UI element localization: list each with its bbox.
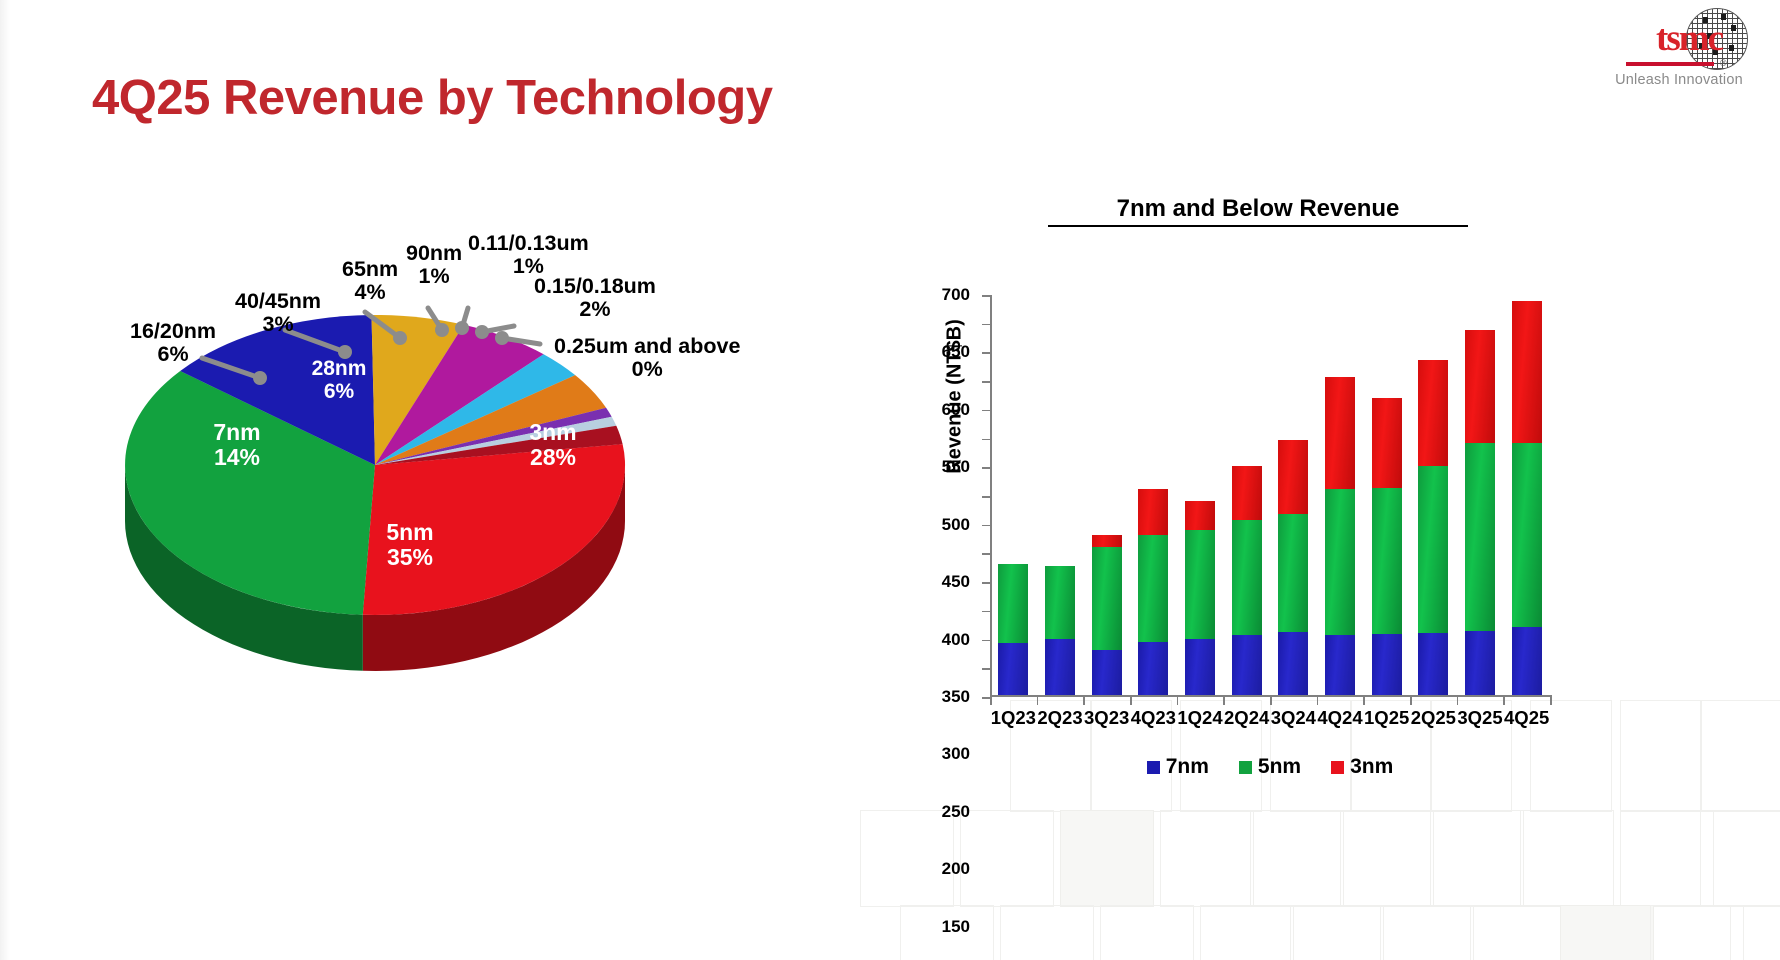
watermark-cell bbox=[1700, 810, 1780, 907]
watermark-cell bbox=[1340, 810, 1434, 907]
y-tick: 300 bbox=[982, 525, 990, 527]
y-tick-label: 250 bbox=[942, 802, 970, 822]
bar-segment-3nm bbox=[1325, 377, 1355, 490]
bar-segment-7nm bbox=[1232, 635, 1262, 695]
x-tick bbox=[1410, 697, 1412, 705]
bar-segment-3nm bbox=[1092, 535, 1122, 546]
y-tick-label: 450 bbox=[942, 572, 970, 592]
y-tick: 600 bbox=[982, 352, 990, 354]
x-tick bbox=[1270, 697, 1272, 705]
logo-mark: tsmc ® bbox=[1604, 8, 1754, 70]
x-tick bbox=[990, 697, 992, 705]
pie-chart: 16/20nm 6% 40/45nm 3% 65nm 4% 90nm 1% 0.… bbox=[110, 280, 810, 700]
bar-chart: 7nm and Below Revenue Revenue (NT$B) 700… bbox=[930, 195, 1750, 755]
bar-segment-7nm bbox=[1325, 635, 1355, 695]
legend-swatch-5nm bbox=[1239, 761, 1252, 774]
y-tick: 400 bbox=[982, 467, 990, 469]
x-axis-label-3Q25: 3Q25 bbox=[1457, 707, 1502, 729]
y-tick-label: 350 bbox=[942, 687, 970, 707]
pie-slice-label-7nm: 7nm 14% bbox=[192, 420, 282, 470]
page-title: 4Q25 Revenue by Technology bbox=[92, 70, 772, 126]
y-tick-label: 400 bbox=[942, 630, 970, 650]
bar-segment-3nm bbox=[1512, 301, 1542, 443]
chart-legend: 7nm5nm3nm bbox=[990, 755, 1550, 779]
bar-segment-5nm bbox=[1512, 443, 1542, 627]
y-tick-label: 300 bbox=[942, 744, 970, 764]
x-tick bbox=[1037, 697, 1039, 705]
watermark-cell bbox=[960, 810, 1054, 907]
bar-segment-5nm bbox=[1185, 530, 1215, 639]
watermark-cell bbox=[1000, 905, 1094, 960]
bar-segment-7nm bbox=[1278, 632, 1308, 695]
x-axis-label-1Q23: 1Q23 bbox=[991, 707, 1036, 729]
bar-segment-3nm bbox=[1278, 440, 1308, 514]
y-tick-label: 500 bbox=[942, 515, 970, 535]
x-axis-label-2Q25: 2Q25 bbox=[1411, 707, 1456, 729]
x-axis-label-4Q23: 4Q23 bbox=[1131, 707, 1176, 729]
y-tick: 100 bbox=[982, 640, 990, 642]
bar-1Q25 bbox=[1372, 398, 1402, 695]
bar-segment-7nm bbox=[1512, 627, 1542, 695]
legend-item-3nm[interactable]: 3nm bbox=[1331, 755, 1393, 779]
x-tick bbox=[1503, 697, 1505, 705]
bar-segment-5nm bbox=[1278, 514, 1308, 632]
bar-4Q25 bbox=[1512, 301, 1542, 695]
y-tick-label: 700 bbox=[942, 285, 970, 305]
logo-underline bbox=[1626, 62, 1714, 66]
bar-segment-7nm bbox=[1185, 639, 1215, 695]
legend-label-3nm: 3nm bbox=[1350, 755, 1393, 779]
x-tick bbox=[1363, 697, 1365, 705]
watermark-cell bbox=[1100, 905, 1194, 960]
brand-tagline: Unleash Innovation bbox=[1604, 72, 1754, 88]
tsmc-wordmark: tsmc bbox=[1604, 20, 1722, 57]
bar-segment-7nm bbox=[1092, 650, 1122, 695]
y-tick: 200 bbox=[982, 582, 990, 584]
bar-2Q23 bbox=[1045, 566, 1075, 695]
x-tick bbox=[1317, 697, 1319, 705]
watermark-cell bbox=[1560, 905, 1654, 960]
y-tick-label: 200 bbox=[942, 859, 970, 879]
watermark-cell bbox=[1250, 810, 1344, 907]
legend-item-7nm[interactable]: 7nm bbox=[1147, 755, 1209, 779]
bar-segment-3nm bbox=[1138, 489, 1168, 535]
watermark-cell bbox=[1200, 905, 1294, 960]
bar-segment-3nm bbox=[1465, 330, 1495, 444]
x-axis-label-2Q23: 2Q23 bbox=[1037, 707, 1082, 729]
legend-label-7nm: 7nm bbox=[1166, 755, 1209, 779]
y-tick-label: 150 bbox=[942, 917, 970, 937]
x-tick bbox=[1223, 697, 1225, 705]
bar-segment-3nm bbox=[1185, 501, 1215, 530]
bar-1Q24 bbox=[1185, 501, 1215, 695]
pie-callout-015-018um: 0.15/0.18um 2% bbox=[534, 275, 656, 321]
watermark-cell bbox=[1060, 810, 1154, 907]
pie-leader-dot bbox=[393, 331, 407, 345]
pie-slice-label-5nm: 5nm 35% bbox=[355, 520, 465, 570]
left-edge-band bbox=[0, 0, 10, 960]
y-tick: 500 bbox=[982, 410, 990, 412]
bar-2Q25 bbox=[1418, 360, 1448, 695]
pie-leader-dot bbox=[253, 371, 267, 385]
bar-segment-7nm bbox=[1138, 642, 1168, 695]
legend-label-5nm: 5nm bbox=[1258, 755, 1301, 779]
bar-3Q23 bbox=[1092, 535, 1122, 695]
y-tick-label: 550 bbox=[942, 457, 970, 477]
legend-swatch-7nm bbox=[1147, 761, 1160, 774]
pie-slice-label-28nm: 28nm 6% bbox=[293, 358, 385, 403]
plot-area: 7006506005505004504003503002502001501005… bbox=[990, 295, 1550, 697]
pie-leader-dot bbox=[455, 321, 469, 335]
bar-4Q23 bbox=[1138, 489, 1168, 695]
pie-slice-label-3nm: 3nm 28% bbox=[498, 420, 608, 470]
pie-leader-dot bbox=[495, 331, 509, 345]
bar-segment-3nm bbox=[1372, 398, 1402, 489]
x-axis-label-1Q25: 1Q25 bbox=[1364, 707, 1409, 729]
bar-2Q24 bbox=[1232, 466, 1262, 695]
watermark-cell bbox=[1380, 905, 1474, 960]
watermark-cell bbox=[1730, 905, 1780, 960]
bar-segment-5nm bbox=[1372, 488, 1402, 634]
bar-segment-7nm bbox=[1418, 633, 1448, 695]
x-tick bbox=[1083, 697, 1085, 705]
bar-segment-7nm bbox=[1045, 639, 1075, 695]
x-tick bbox=[1130, 697, 1132, 705]
pie-callout-011-013um: 0.11/0.13um 1% bbox=[468, 232, 589, 278]
bar-segment-3nm bbox=[1232, 466, 1262, 520]
x-axis-label-2Q24: 2Q24 bbox=[1224, 707, 1269, 729]
bar-3Q24 bbox=[1278, 440, 1308, 695]
bar-segment-3nm bbox=[1418, 360, 1448, 467]
x-tick bbox=[1457, 697, 1459, 705]
bar-segment-5nm bbox=[998, 564, 1028, 643]
pie-callout-025um-and-above: 0.25um and above 0% bbox=[554, 335, 740, 381]
y-tick: - bbox=[982, 697, 990, 699]
y-tick: 700 bbox=[982, 295, 990, 297]
bar-segment-5nm bbox=[1232, 520, 1262, 635]
bar-segment-5nm bbox=[1325, 489, 1355, 635]
pie-callout-16-20nm: 16/20nm 6% bbox=[130, 320, 216, 366]
tsmc-logo: tsmc ® Unleash Innovation bbox=[1604, 8, 1754, 88]
pie-leader-dot bbox=[435, 323, 449, 337]
y-tick: 150 bbox=[982, 611, 990, 613]
pie-callout-40-45nm: 40/45nm 3% bbox=[235, 290, 321, 336]
bar-segment-5nm bbox=[1092, 547, 1122, 650]
bar-segment-5nm bbox=[1465, 443, 1495, 630]
y-tick-label: 600 bbox=[942, 400, 970, 420]
bar-segment-7nm bbox=[1465, 631, 1495, 695]
y-tick: 650 bbox=[982, 324, 990, 326]
watermark-cell bbox=[1470, 905, 1564, 960]
legend-item-5nm[interactable]: 5nm bbox=[1239, 755, 1301, 779]
y-axis-line bbox=[990, 295, 992, 697]
y-tick-label: 650 bbox=[942, 342, 970, 362]
x-axis-label-3Q24: 3Q24 bbox=[1271, 707, 1316, 729]
watermark-cell bbox=[1430, 810, 1524, 907]
watermark-cell bbox=[1160, 810, 1254, 907]
y-tick: 550 bbox=[982, 381, 990, 383]
bar-segment-7nm bbox=[1372, 634, 1402, 695]
x-axis-labels: 1Q232Q233Q234Q231Q242Q243Q244Q241Q252Q25… bbox=[990, 707, 1550, 735]
bar-4Q24 bbox=[1325, 377, 1355, 695]
bar-chart-title: 7nm and Below Revenue bbox=[1048, 195, 1468, 227]
x-axis-label-4Q24: 4Q24 bbox=[1317, 707, 1362, 729]
bar-segment-5nm bbox=[1418, 466, 1448, 633]
watermark-cell bbox=[860, 810, 954, 907]
legend-swatch-3nm bbox=[1331, 761, 1344, 774]
y-tick: 50 bbox=[982, 668, 990, 670]
x-tick bbox=[1177, 697, 1179, 705]
x-tick bbox=[1550, 697, 1552, 705]
bar-segment-5nm bbox=[1045, 566, 1075, 638]
x-axis-label-3Q23: 3Q23 bbox=[1084, 707, 1129, 729]
watermark-cell bbox=[1520, 810, 1614, 907]
bar-1Q23 bbox=[998, 564, 1028, 695]
pie-callout-90nm: 90nm 1% bbox=[406, 242, 462, 288]
bar-segment-7nm bbox=[998, 643, 1028, 695]
bar-3Q25 bbox=[1465, 330, 1495, 695]
pie-callout-65nm: 65nm 4% bbox=[342, 258, 398, 304]
x-axis-label-1Q24: 1Q24 bbox=[1177, 707, 1222, 729]
bar-segment-5nm bbox=[1138, 535, 1168, 642]
pie-leader-dot bbox=[475, 325, 489, 339]
watermark-cell bbox=[1290, 905, 1384, 960]
registered-mark: ® bbox=[1720, 58, 1727, 68]
y-tick: 250 bbox=[982, 553, 990, 555]
x-axis-label-4Q25: 4Q25 bbox=[1504, 707, 1549, 729]
y-tick: 350 bbox=[982, 496, 990, 498]
y-tick: 450 bbox=[982, 439, 990, 441]
slide-root: tsmc ® Unleash Innovation 4Q25 Revenue b… bbox=[0, 0, 1780, 960]
